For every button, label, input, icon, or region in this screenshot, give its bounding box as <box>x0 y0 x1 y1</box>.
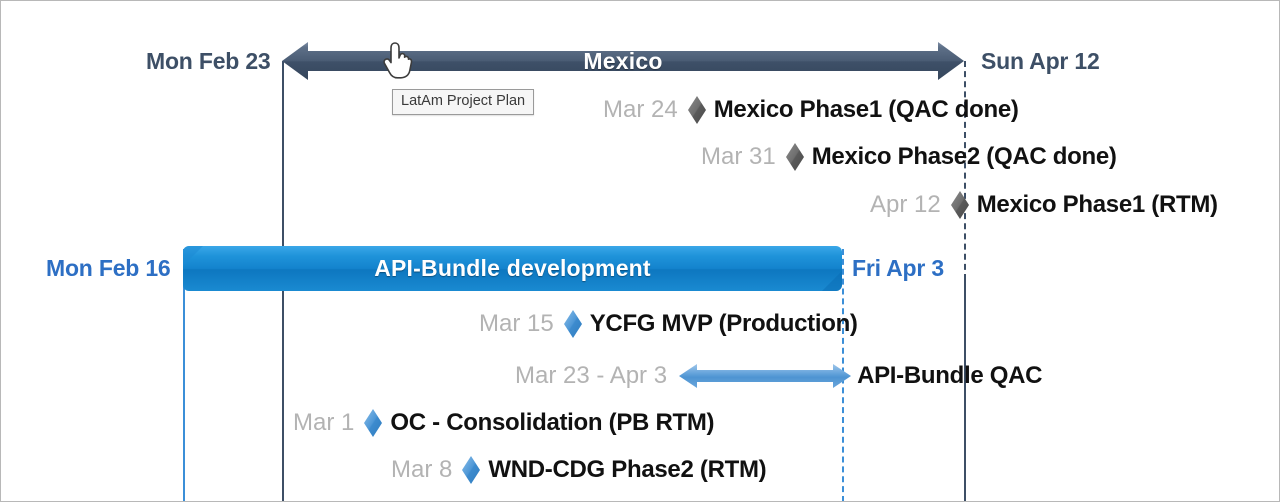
blue-diamond-icon <box>563 309 583 339</box>
api-bundle-end-date-label: Fri Apr 3 <box>852 255 944 282</box>
milestone-ycfg-mvp-production[interactable]: Mar 15 YCFG MVP (Production) <box>479 309 858 339</box>
milestone-date: Apr 12 <box>870 191 941 219</box>
milestone-api-bundle-qac[interactable]: Mar 23 - Apr 3 API-Bundle QAC <box>515 361 1042 391</box>
milestone-wnd-cdg-phase2-rtm[interactable]: Mar 8 WND-CDG Phase2 (RTM) <box>391 455 766 485</box>
api-bundle-bar-label: API-Bundle development <box>374 255 651 282</box>
blue-diamond-icon <box>461 455 481 485</box>
api-bundle-development-bar[interactable]: API-Bundle development <box>183 246 842 291</box>
mexico-bar-label: Mexico <box>583 48 662 75</box>
milestone-oc-consolidation-pb-rtm[interactable]: Mar 1 OC - Consolidation (PB RTM) <box>293 408 714 438</box>
guide-line-apr12-lower <box>964 280 966 502</box>
milestone-label: Mexico Phase2 (QAC done) <box>812 143 1117 171</box>
milestone-label: WND-CDG Phase2 (RTM) <box>488 456 766 484</box>
milestone-label: API-Bundle QAC <box>857 362 1042 390</box>
mexico-start-date-label: Mon Feb 23 <box>146 48 271 75</box>
milestone-mexico-phase2-qac[interactable]: Mar 31 Mexico Phase2 (QAC done) <box>701 142 1117 172</box>
mexico-end-date-label: Sun Apr 12 <box>981 48 1100 75</box>
milestone-date: Mar 15 <box>479 310 554 338</box>
mexico-summary-bar[interactable]: Mexico <box>282 40 964 82</box>
milestone-label: YCFG MVP (Production) <box>590 310 858 338</box>
milestone-label: Mexico Phase1 (RTM) <box>977 191 1218 219</box>
milestone-mexico-phase1-qac[interactable]: Mar 24 Mexico Phase1 (QAC done) <box>603 95 1019 125</box>
milestone-label: Mexico Phase1 (QAC done) <box>714 96 1019 124</box>
api-bundle-start-date-label: Mon Feb 16 <box>46 255 171 282</box>
milestone-label: OC - Consolidation (PB RTM) <box>390 409 714 437</box>
dark-diamond-icon <box>687 95 707 125</box>
blue-double-arrow-icon <box>679 361 851 391</box>
milestone-date: Mar 1 <box>293 409 354 437</box>
milestone-mexico-phase1-rtm[interactable]: Apr 12 Mexico Phase1 (RTM) <box>870 190 1218 220</box>
timeline-canvas: Mon Feb 23 Mexico Sun Apr 12 LatAm Proje… <box>0 0 1280 502</box>
milestone-date: Mar 31 <box>701 143 776 171</box>
blue-diamond-icon <box>363 408 383 438</box>
dark-diamond-icon <box>950 190 970 220</box>
milestone-date: Mar 24 <box>603 96 678 124</box>
tooltip: LatAm Project Plan <box>392 89 534 115</box>
dark-diamond-icon <box>785 142 805 172</box>
milestone-date: Mar 23 - Apr 3 <box>515 362 667 390</box>
milestone-date: Mar 8 <box>391 456 452 484</box>
